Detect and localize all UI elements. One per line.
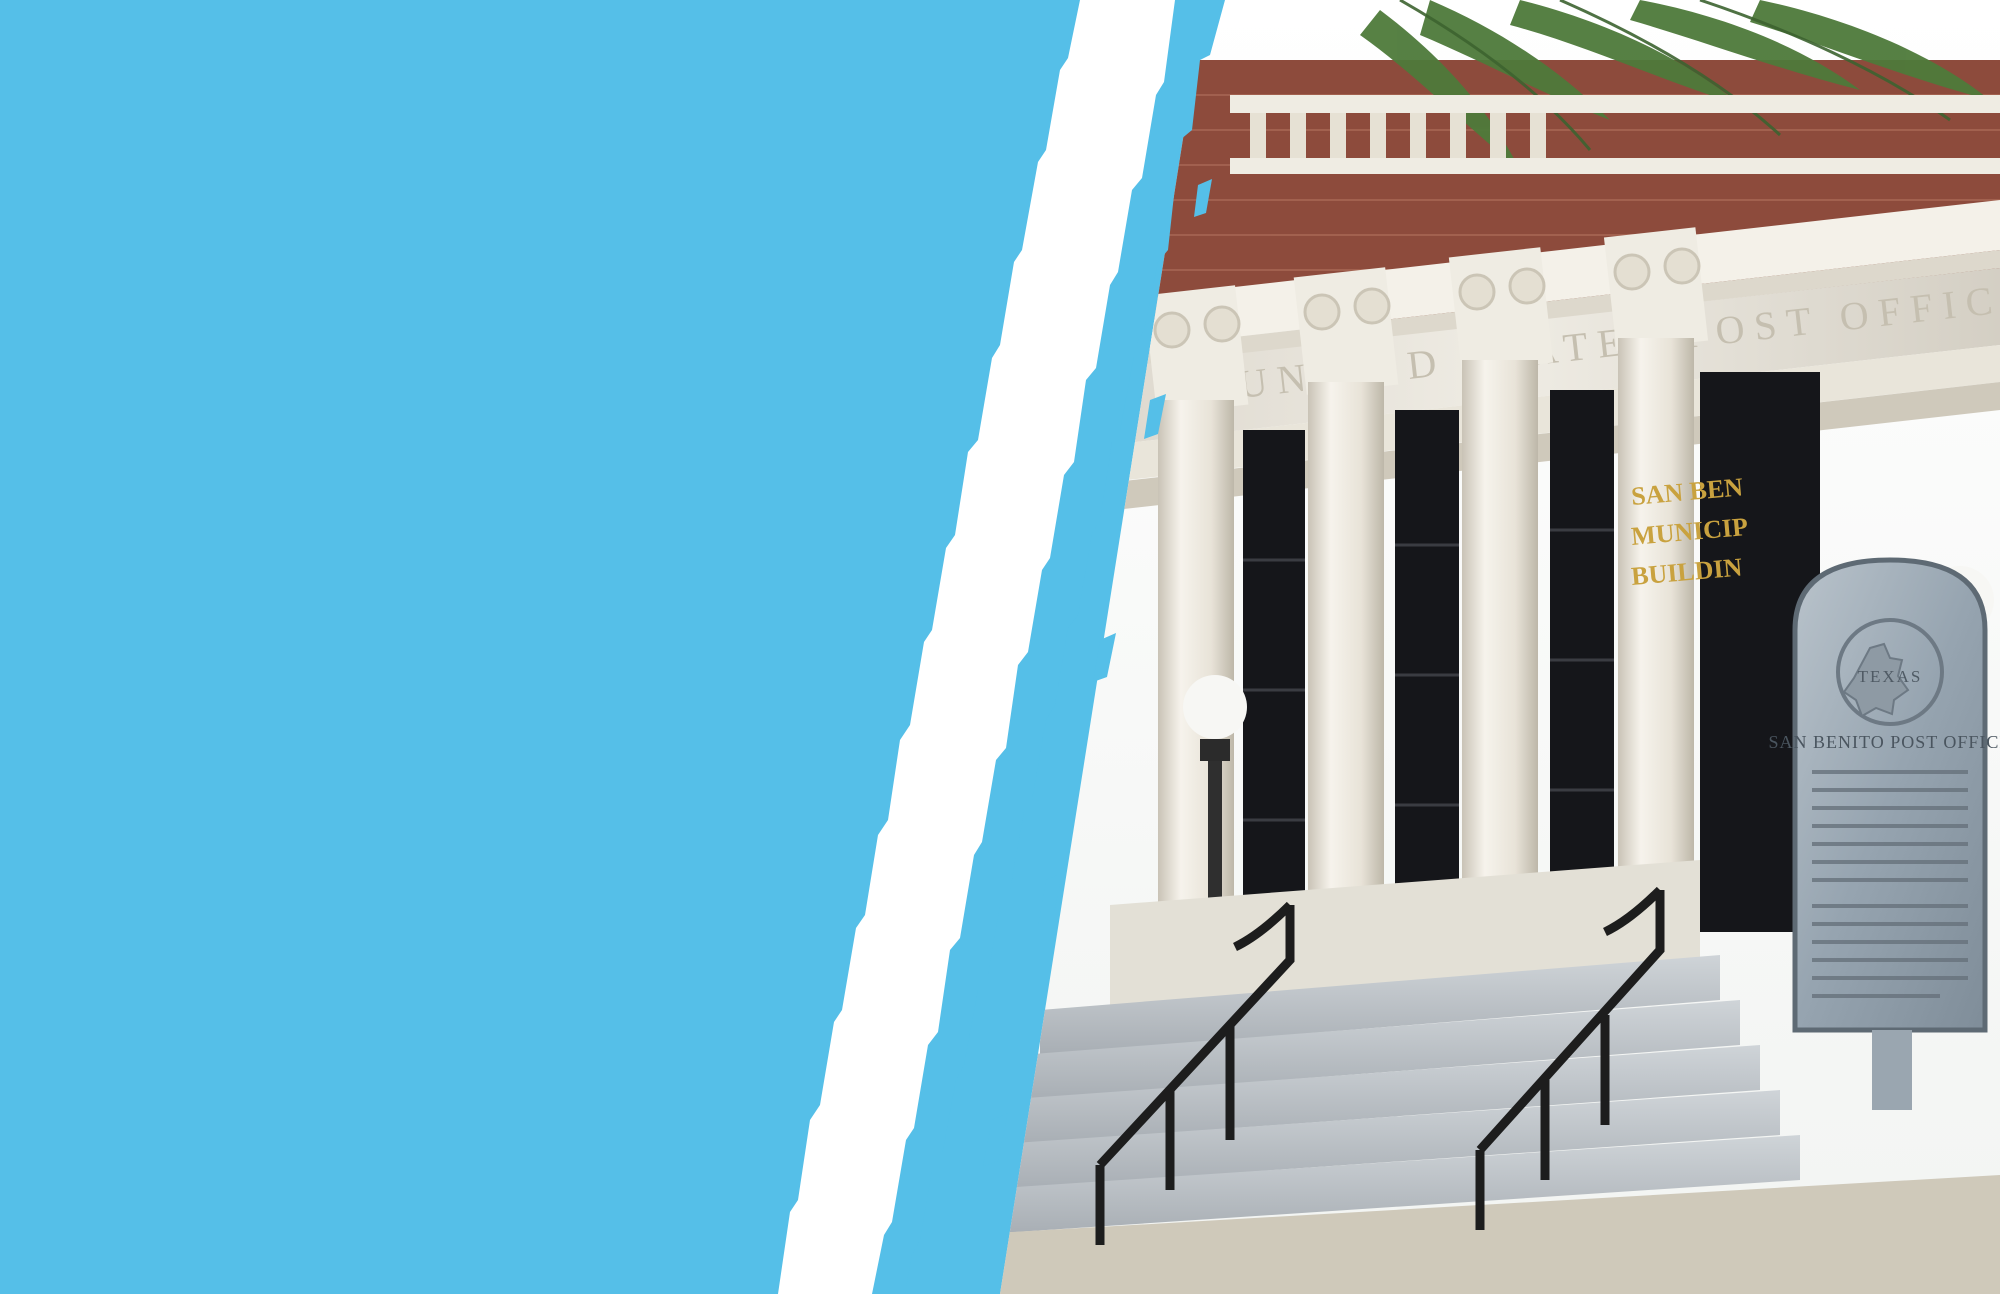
- city-tag-line-3: city: [370, 1166, 408, 1191]
- edc-wordmark: Economic Development Corporation: [432, 1182, 832, 1294]
- event-venue: SAN BENITO EDC: [77, 410, 883, 483]
- edc-name-bar: San Benito: [440, 1078, 716, 1124]
- city-tag-line-1: the: [375, 1117, 408, 1142]
- blurb-line-3: THIS FREE COMMUNITY EVENT: [48, 943, 912, 998]
- event-date: THURSDAY, AUGUST 15: [77, 336, 883, 409]
- svg-text:SAN BENITO POST OFFICE: SAN BENITO POST OFFICE: [1769, 732, 2000, 752]
- wave-line: [463, 1148, 693, 1155]
- bird-icon: [301, 1061, 329, 1078]
- edc-line-3: Corporation: [432, 1263, 832, 1294]
- waves-graphic: [463, 1120, 693, 1172]
- san-benito-edc-logo: San Benito Economic Development Corporat…: [440, 992, 840, 1292]
- headline-line-2: FOR ALL: [58, 141, 903, 268]
- blurb-line-2: & DEPARTMENT LEADERS AT: [48, 888, 912, 943]
- city-logo-tagline: the resaca city: [338, 1118, 408, 1192]
- bird-icon: [334, 1088, 361, 1102]
- city-tag-line-2: resaca: [338, 1142, 408, 1167]
- event-details: 4-7 PM THURSDAY, AUGUST 15 SAN BENITO ED…: [0, 268, 960, 556]
- event-tagline: CITY HALL COMES TO YOU: [0, 690, 960, 747]
- headline-line-1: CITY HALL: [58, 14, 903, 141]
- wave-line: [463, 1134, 693, 1141]
- tagline-line-1: CITY HALL COMES TO YOU: [38, 690, 921, 747]
- edc-line-1: Economic: [432, 1182, 832, 1222]
- bird-icon: [488, 1039, 522, 1061]
- left-content-panel: CITY HALL FOR ALL 4-7 PM THURSDAY, AUGUS…: [0, 0, 960, 1294]
- edc-line-2: Development: [432, 1222, 832, 1262]
- city-logo-name: SAN BENITO: [212, 1034, 363, 1061]
- page-title: CITY HALL FOR ALL: [0, 14, 960, 268]
- blurb-line-1: MEET WITH ELECTED OFFICIALS: [48, 833, 912, 888]
- event-description: MEET WITH ELECTED OFFICIALS & DEPARTMENT…: [0, 833, 960, 998]
- logo-row: SAN BENITO the resaca city SM: [120, 1000, 840, 1294]
- svg-text:TEXAS: TEXAS: [1858, 667, 1923, 686]
- service-mark-badge: SM: [380, 1248, 406, 1274]
- edc-logo-name: San Benito: [482, 1082, 674, 1120]
- event-address: 701 N. BOWIE ST.: [77, 483, 883, 556]
- san-benito-city-logo: SAN BENITO the resaca city SM: [140, 1000, 430, 1290]
- event-time: 4-7 PM: [77, 268, 883, 336]
